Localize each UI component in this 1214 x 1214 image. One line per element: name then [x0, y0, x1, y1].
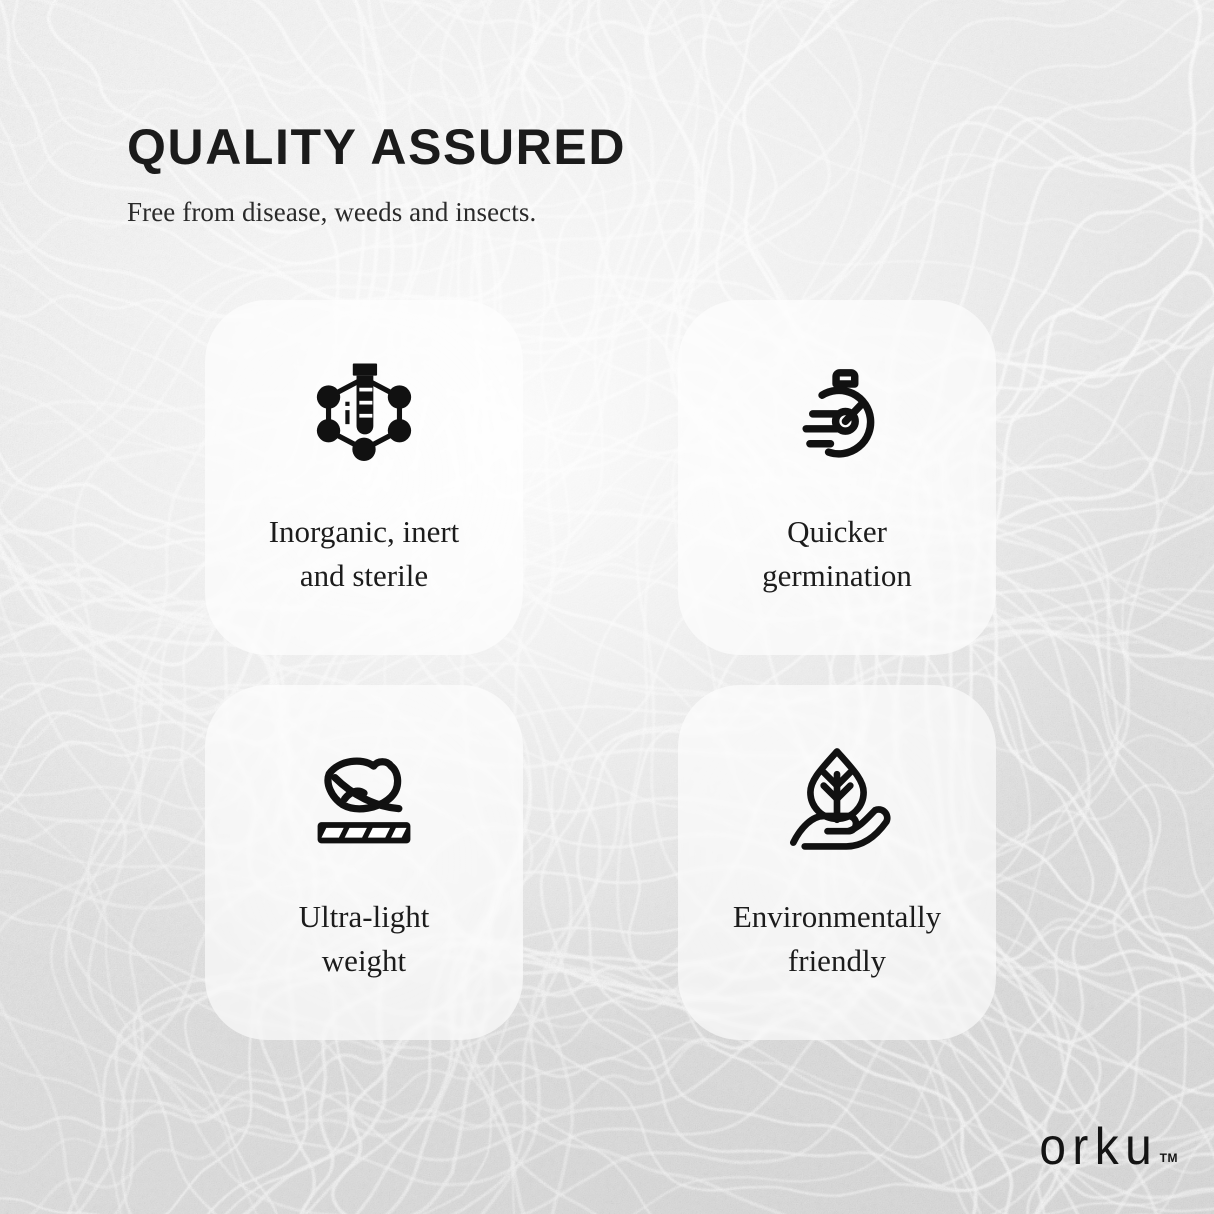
feature-grid: Inorganic, inert and sterile	[205, 300, 1015, 1040]
stopwatch-speed-icon	[777, 352, 897, 472]
trademark-symbol: TM	[1160, 1151, 1178, 1165]
brand-wordmark: orku	[1039, 1124, 1158, 1172]
poster: QUALITY ASSURED Free from disease, weeds…	[0, 0, 1214, 1214]
feature-label: Quicker germination	[750, 510, 924, 598]
leaf-in-hand-icon	[777, 737, 897, 857]
feature-card-ultralight: Ultra-light weight	[205, 685, 523, 1040]
feature-card-inorganic: Inorganic, inert and sterile	[205, 300, 523, 655]
feature-card-germination: Quicker germination	[678, 300, 996, 655]
feature-label: Inorganic, inert and sterile	[257, 510, 472, 598]
feature-label: Ultra-light weight	[287, 895, 442, 983]
header: QUALITY ASSURED Free from disease, weeds…	[127, 122, 1027, 228]
page-subtitle: Free from disease, weeds and insects.	[127, 197, 1027, 228]
feature-card-environment: Environmentally friendly	[678, 685, 996, 1040]
poster-content: QUALITY ASSURED Free from disease, weeds…	[0, 0, 1214, 1214]
feather-on-block-icon	[304, 737, 424, 857]
feature-label: Environmentally friendly	[721, 895, 953, 983]
brand-logo: orku TM	[1029, 1124, 1178, 1172]
molecule-test-tube-icon	[304, 352, 424, 472]
page-title: QUALITY ASSURED	[127, 122, 1027, 172]
